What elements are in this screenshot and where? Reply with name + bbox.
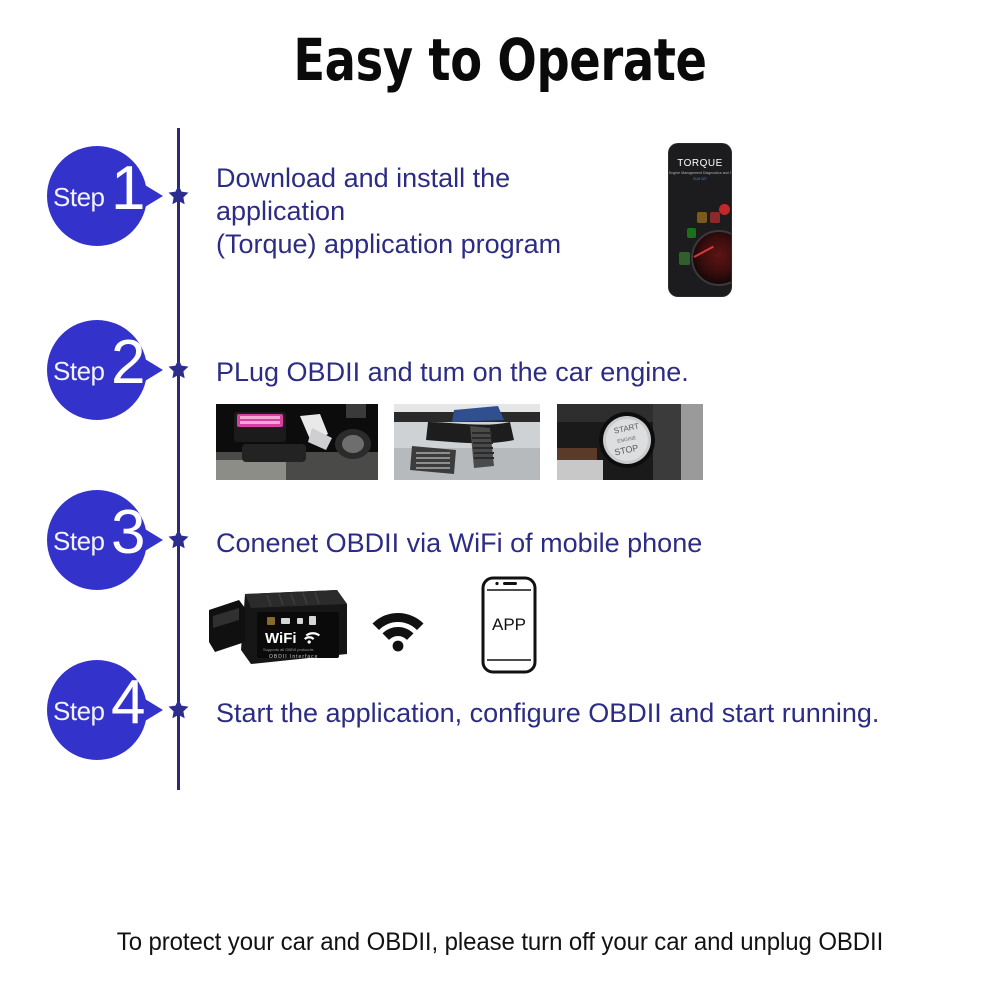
step-badge-label-3: Step (53, 526, 105, 557)
step-badge-number-3: 3 (111, 502, 145, 564)
step-badge-2: Step 2 (45, 318, 165, 422)
obd-wifi-adapter-image: WiFi Supports all OBDII protocols OBDII … (205, 580, 355, 672)
torque-widget-green (679, 252, 690, 265)
torque-app-phone-screenshot: TORQUE Engine Management Diagnostics and… (669, 144, 731, 296)
photo-start-stop-button: START ENGINE STOP (557, 404, 703, 480)
step-badge-4: Step 4 (45, 658, 165, 762)
timeline-star-step-2 (166, 357, 191, 382)
timeline-rail (177, 128, 180, 790)
step-badge-number-4: 4 (111, 672, 145, 734)
app-phone-outline: APP (481, 576, 537, 674)
torque-app-subtitle-secondary: ELM 327 (669, 177, 731, 181)
photo-car-pedals (394, 404, 540, 480)
step-description-3: Conenet OBDII via WiFi of mobile phone (216, 527, 816, 560)
torque-widget-arrow (687, 228, 696, 238)
step-badge-number-2: 2 (111, 332, 145, 394)
timeline-star-step-4 (166, 697, 191, 722)
step-badge-number-1: 1 (111, 158, 145, 220)
page-title: Easy to Operate (100, 28, 900, 92)
timeline-star-step-1 (166, 183, 191, 208)
torque-widget-amber (697, 212, 707, 223)
torque-app-subtitle: Engine Management Diagnostics and Scan (669, 171, 731, 175)
step-badge-label-4: Step (53, 696, 105, 727)
step-description-1: Download and install the application (To… (216, 162, 686, 261)
svg-text:Supports all OBDII protocols: Supports all OBDII protocols (263, 647, 313, 652)
step-badge-label-2: Step (53, 356, 105, 387)
step-badge-label-1: Step (53, 182, 105, 213)
step-badge-3: Step 3 (45, 488, 165, 592)
torque-widget-red (710, 212, 720, 223)
torque-app-title: TORQUE (669, 158, 731, 169)
footer-warning-note: To protect your car and OBDII, please tu… (20, 928, 980, 957)
step-badge-1: Step 1 (45, 144, 165, 248)
torque-widget-circle-red (719, 204, 730, 215)
app-phone-screen-label: APP (492, 615, 526, 634)
svg-text:WiFi: WiFi (265, 630, 297, 647)
svg-text:OBDII Interface: OBDII Interface (269, 654, 318, 660)
step-description-4: Start the application, configure OBDII a… (216, 697, 956, 730)
wifi-icon (365, 600, 431, 652)
timeline-star-step-3 (166, 527, 191, 552)
torque-gauge (691, 230, 731, 286)
photo-obd-port (216, 404, 378, 480)
step-description-2: PLug OBDII and tum on the car engine. (216, 356, 816, 389)
